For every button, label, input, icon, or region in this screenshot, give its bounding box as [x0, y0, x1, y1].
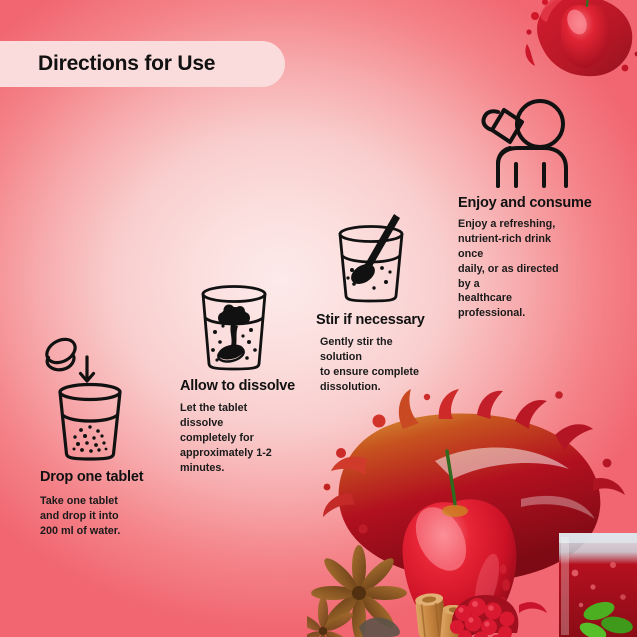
header-banner: Directions for Use: [0, 41, 285, 87]
apple-splash-bottom-right-decoration: [307, 387, 637, 637]
step-2-body: Let the tablet dissolve completely for a…: [180, 401, 295, 475]
step-4-enjoy-and-consume: Enjoy and consume Enjoy a refreshing, nu…: [458, 98, 592, 321]
glass-dissolving-tablet-icon: [193, 280, 275, 372]
person-drinking-glass-icon: [476, 98, 580, 188]
step-3-stir-if-necessary: Stir if necessary Gently stir the soluti…: [316, 212, 425, 395]
infographic-canvas: Directions for Use: [0, 0, 637, 637]
apple-splash-top-right-decoration: [521, 0, 637, 102]
step-2-allow-to-dissolve: Allow to dissolve Let the tablet dissolv…: [180, 280, 295, 475]
step-4-body: Enjoy a refreshing, nutrient-rich drink …: [458, 217, 592, 321]
tablet-drop-into-glass-icon: [40, 336, 140, 461]
step-1-drop-one-tablet: Drop one tablet Take one tablet and drop…: [40, 336, 143, 539]
step-2-heading: Allow to dissolve: [180, 378, 295, 394]
glass-with-spoon-icon: [330, 212, 412, 304]
step-3-heading: Stir if necessary: [316, 312, 425, 328]
page-title: Directions for Use: [38, 52, 215, 76]
step-1-heading: Drop one tablet: [40, 469, 143, 485]
step-3-body: Gently stir the solution to ensure compl…: [320, 335, 425, 395]
step-4-heading: Enjoy and consume: [458, 195, 592, 211]
step-1-body: Take one tablet and drop it into 200 ml …: [40, 494, 143, 539]
